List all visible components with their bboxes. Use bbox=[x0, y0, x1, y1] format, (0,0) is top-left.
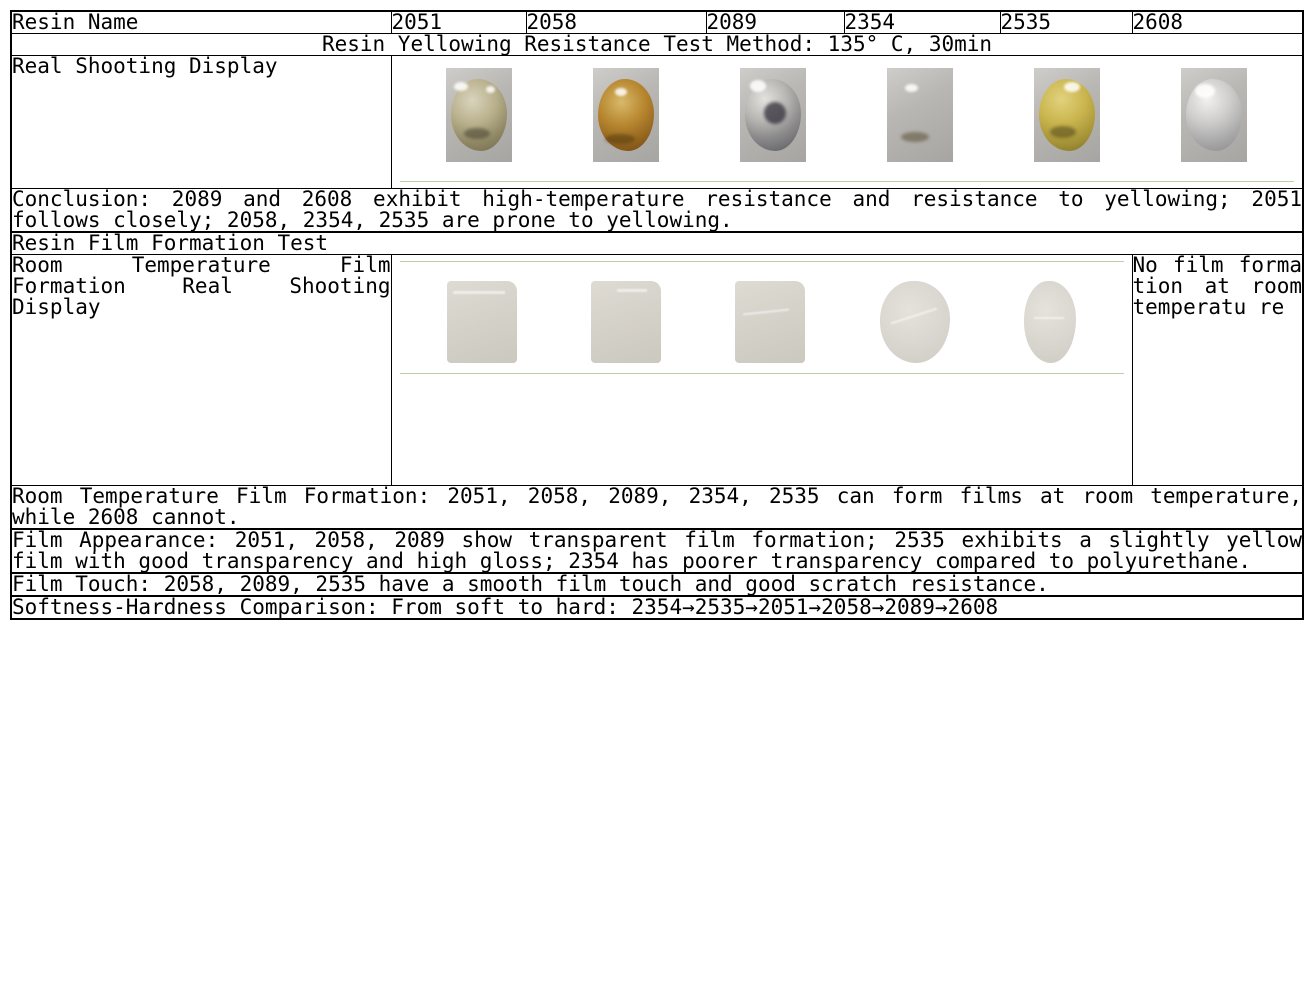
sample-photo-2089 bbox=[740, 68, 806, 162]
table-row-film-appearance: Film Appearance: 2051, 2058, 2089 show t… bbox=[11, 529, 1303, 573]
film-photo-2058 bbox=[591, 281, 661, 363]
table-row-real-shooting: Real Shooting Display bbox=[11, 56, 1303, 189]
room-temp-label: Room Temperature Film Formation Real Sho… bbox=[11, 255, 391, 486]
film-square bbox=[591, 281, 661, 363]
header-resin-2051: 2051 bbox=[391, 11, 526, 34]
document-page: Resin Name 2051 2058 2089 2354 2535 2608… bbox=[0, 0, 1314, 982]
table-row-film-touch: Film Touch: 2058, 2089, 2535 have a smoo… bbox=[11, 573, 1303, 596]
table-row-yellowing-method: Resin Yellowing Resistance Test Method: … bbox=[11, 34, 1303, 56]
table-row-room-temp-films: Room Temperature Film Formation Real Sho… bbox=[11, 255, 1303, 486]
sample-photo-2535 bbox=[1034, 68, 1100, 162]
header-label-resin-name: Resin Name bbox=[11, 11, 391, 34]
softness-hardness-comparison: Softness-Hardness Comparison: From soft … bbox=[11, 596, 1303, 619]
yellowing-photo-cell bbox=[391, 56, 1303, 189]
yellowing-conclusion: Conclusion: 2089 and 2608 exhibit high-t… bbox=[11, 189, 1303, 233]
film-appearance: Film Appearance: 2051, 2058, 2089 show t… bbox=[11, 529, 1303, 573]
resin-shadow bbox=[605, 134, 635, 144]
film-blob bbox=[1024, 281, 1076, 363]
header-resin-2058: 2058 bbox=[526, 11, 706, 34]
film-photo-2535 bbox=[1024, 281, 1076, 363]
green-divider-line bbox=[400, 373, 1124, 374]
film-photo-2089 bbox=[735, 281, 805, 363]
foil-glint bbox=[486, 86, 495, 93]
film-streak bbox=[617, 289, 647, 292]
room-temp-conclusion: Room Temperature Film Formation: 2051, 2… bbox=[11, 486, 1303, 530]
sample-photo-2354 bbox=[887, 68, 953, 162]
header-resin-2354: 2354 bbox=[844, 11, 1000, 34]
sample-photo-2608 bbox=[1181, 68, 1247, 162]
film-streak bbox=[453, 291, 505, 294]
foil-glint bbox=[454, 82, 468, 91]
yellowing-test-method: Resin Yellowing Resistance Test Method: … bbox=[11, 34, 1303, 56]
resin-shadow bbox=[464, 128, 490, 139]
table-row-softness-hardness: Softness-Hardness Comparison: From soft … bbox=[11, 596, 1303, 619]
table-row-conclusion: Conclusion: 2089 and 2608 exhibit high-t… bbox=[11, 189, 1303, 233]
sample-photo-2051 bbox=[446, 68, 512, 162]
no-film-note: No film formation at room temperatu re bbox=[1132, 255, 1303, 486]
film-photo-2051 bbox=[447, 281, 517, 363]
film-touch: Film Touch: 2058, 2089, 2535 have a smoo… bbox=[11, 573, 1303, 596]
film-square bbox=[735, 281, 805, 363]
film-photo-cell bbox=[391, 255, 1132, 486]
yellowing-photo-strip bbox=[392, 56, 1303, 188]
table-row-room-temp-conclusion: Room Temperature Film Formation: 2051, 2… bbox=[11, 486, 1303, 530]
header-resin-2535: 2535 bbox=[1000, 11, 1132, 34]
resin-comparison-table: Resin Name 2051 2058 2089 2354 2535 2608… bbox=[10, 10, 1304, 620]
header-resin-2089: 2089 bbox=[706, 11, 844, 34]
real-shooting-label: Real Shooting Display bbox=[11, 56, 391, 189]
table-row-header: Resin Name 2051 2058 2089 2354 2535 2608 bbox=[11, 11, 1303, 34]
green-divider-line bbox=[400, 181, 1295, 182]
film-streak bbox=[1034, 317, 1064, 319]
film-photo-strip bbox=[392, 255, 1132, 389]
sample-photo-2058 bbox=[593, 68, 659, 162]
film-photo-2354 bbox=[880, 281, 950, 363]
film-formation-test-label: Resin Film Formation Test bbox=[11, 232, 1303, 255]
header-resin-2608: 2608 bbox=[1132, 11, 1303, 34]
table-row-film-formation-test: Resin Film Formation Test bbox=[11, 232, 1303, 255]
